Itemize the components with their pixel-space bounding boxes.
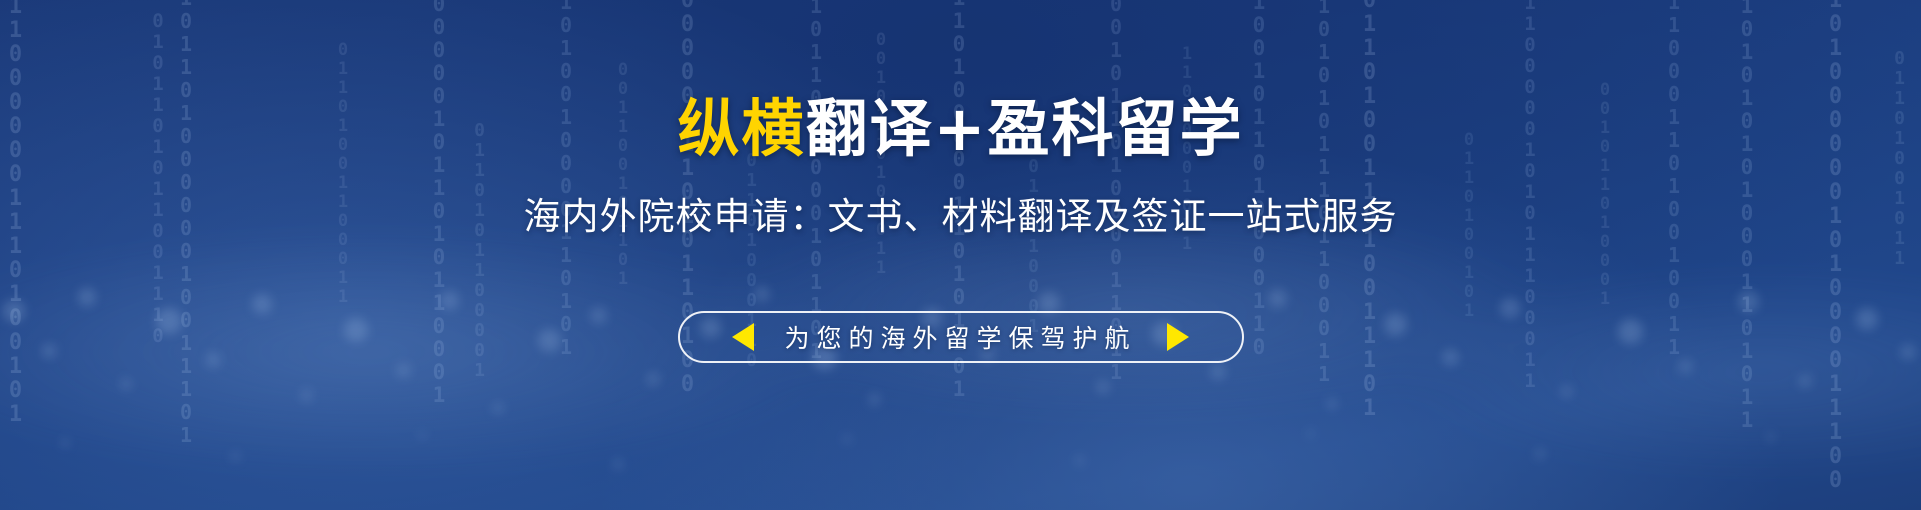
promo-banner: 1100000011101001010101101011001110101101… (0, 0, 1921, 510)
banner-content: 纵横翻译+盈科留学 海内外院校申请：文书、材料翻译及签证一站式服务 为您的海外留… (0, 0, 1921, 510)
subtitle: 海内外院校申请：文书、材料翻译及签证一站式服务 (0, 186, 1921, 240)
triangle-left-icon (732, 323, 754, 351)
headline: 纵横翻译+盈科留学 (0, 96, 1921, 161)
headline-main-text: 翻译+盈科留学 (806, 92, 1244, 165)
headline-accent-text: 纵横 (678, 92, 806, 165)
cta-button[interactable]: 为您的海外留学保驾护航 (678, 311, 1244, 363)
cta-button-label: 为您的海外留学保驾护航 (784, 319, 1136, 355)
triangle-right-icon (1167, 323, 1189, 351)
